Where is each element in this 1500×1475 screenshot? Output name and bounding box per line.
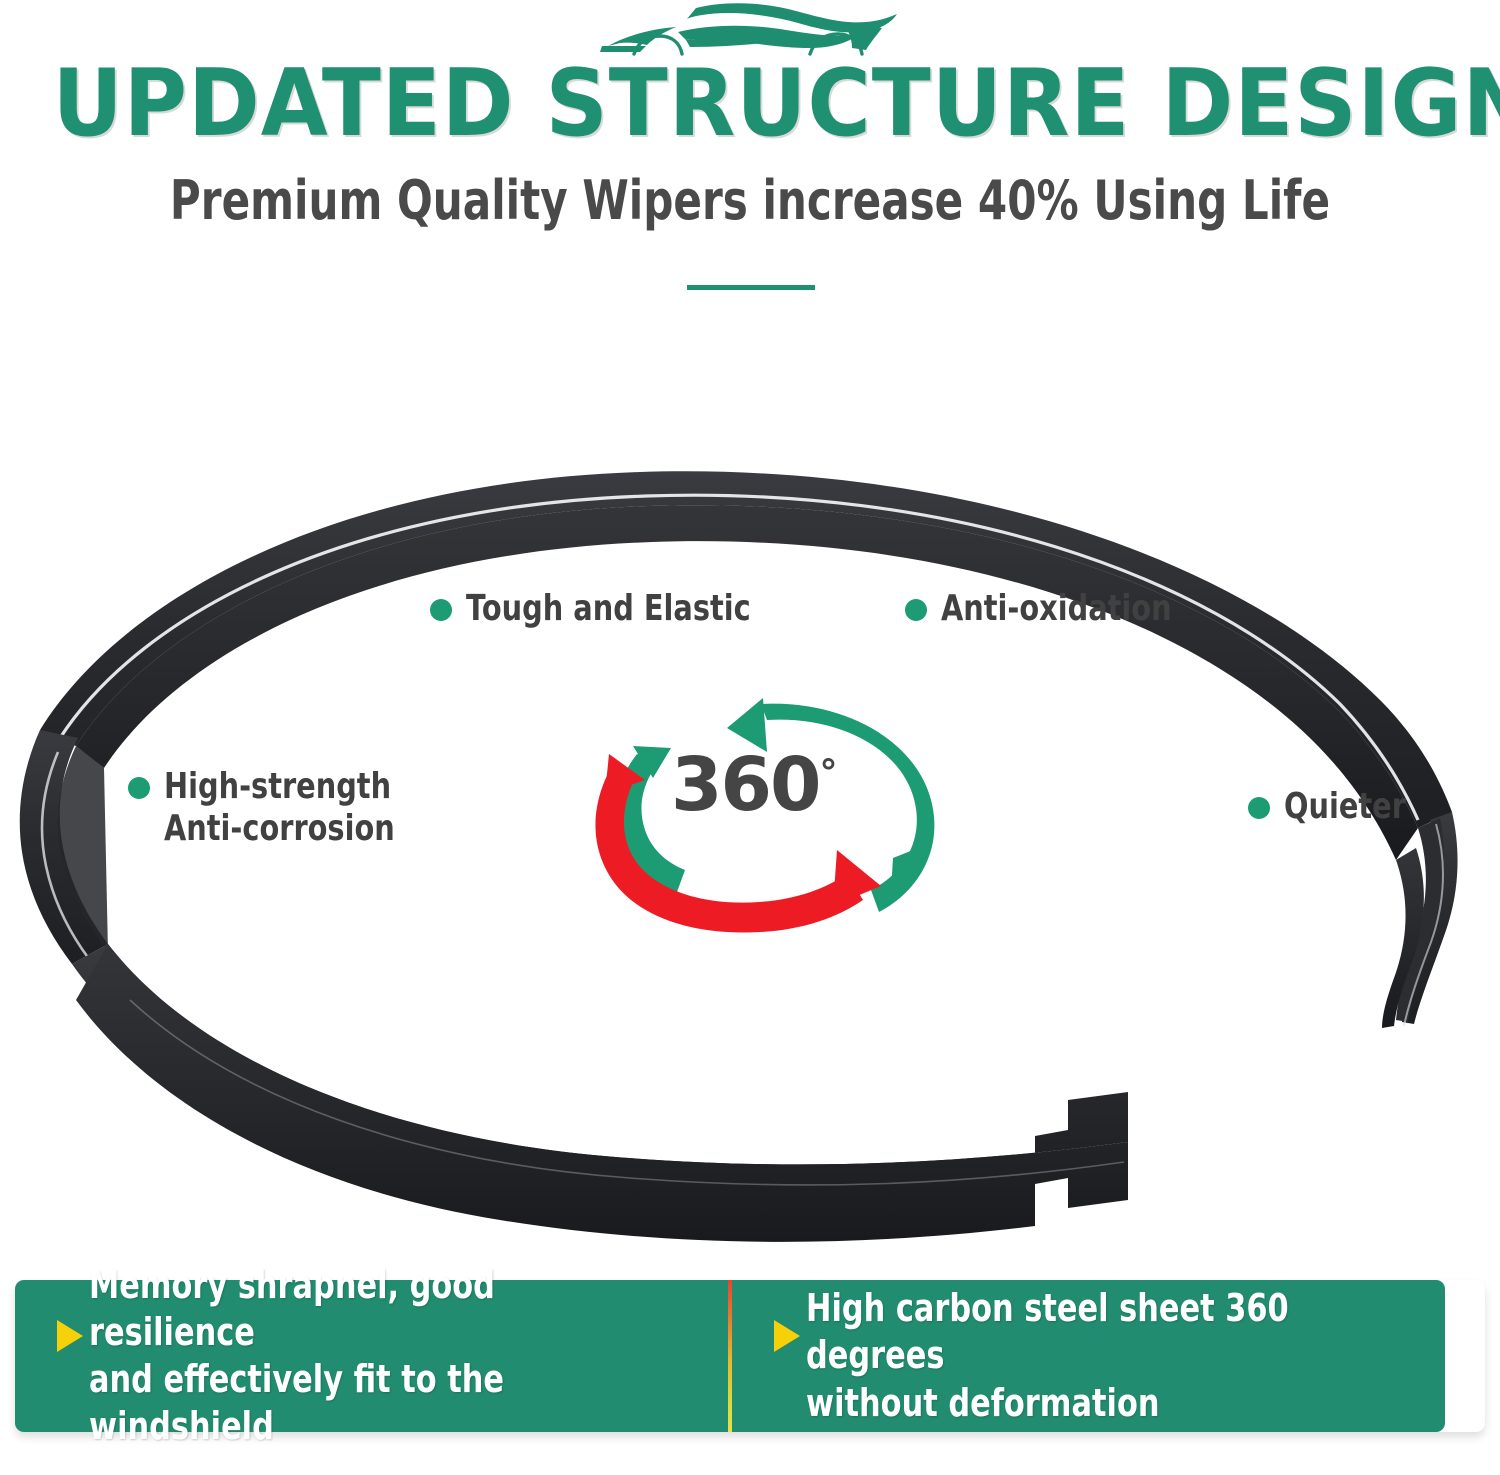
bullet-dot-icon xyxy=(905,599,927,621)
page-subtitle: Premium Quality Wipers increase 40% Usin… xyxy=(165,172,1335,230)
banner-high-carbon-steel: High carbon steel sheet 360 degrees with… xyxy=(732,1280,1445,1432)
feature-label: Quieter xyxy=(1284,786,1406,828)
triangle-right-icon xyxy=(774,1320,800,1352)
bullet-dot-icon xyxy=(1248,797,1270,819)
badge-360-rotation: 360° xyxy=(575,690,965,935)
product-image-area: Tough and Elastic Anti-oxidation High-st… xyxy=(0,300,1500,1260)
header-section: UPDATED STRUCTURE DESIGN Premium Quality… xyxy=(0,0,1500,300)
feature-label: Anti-oxidation xyxy=(941,588,1172,630)
banner-memory-shrapnel: Memory shrapnel, good resilience and eff… xyxy=(15,1280,728,1432)
bullet-dot-icon xyxy=(128,777,150,799)
feature-quieter: Quieter xyxy=(1248,786,1436,828)
feature-tough-and-elastic: Tough and Elastic xyxy=(430,588,822,630)
title-divider xyxy=(687,285,815,290)
badge-360-number: 360 xyxy=(671,742,819,828)
bullet-dot-icon xyxy=(430,599,452,621)
triangle-right-icon xyxy=(57,1320,83,1352)
badge-360-value: 360° xyxy=(671,748,837,822)
banner-text: High carbon steel sheet 360 degrees with… xyxy=(806,1285,1317,1426)
degree-symbol-icon: ° xyxy=(819,752,837,793)
feature-anti-oxidation: Anti-oxidation xyxy=(905,588,1229,630)
page-title: UPDATED STRUCTURE DESIGN xyxy=(53,57,1448,150)
bottom-banner-row: Memory shrapnel, good resilience and eff… xyxy=(15,1280,1485,1432)
banner-text: Memory shrapnel, good resilience and eff… xyxy=(89,1262,600,1450)
feature-label: Tough and Elastic xyxy=(466,588,751,630)
feature-label: High-strength Anti-corrosion xyxy=(164,766,395,851)
feature-high-strength-anti-corrosion: High-strength Anti-corrosion xyxy=(128,766,452,851)
